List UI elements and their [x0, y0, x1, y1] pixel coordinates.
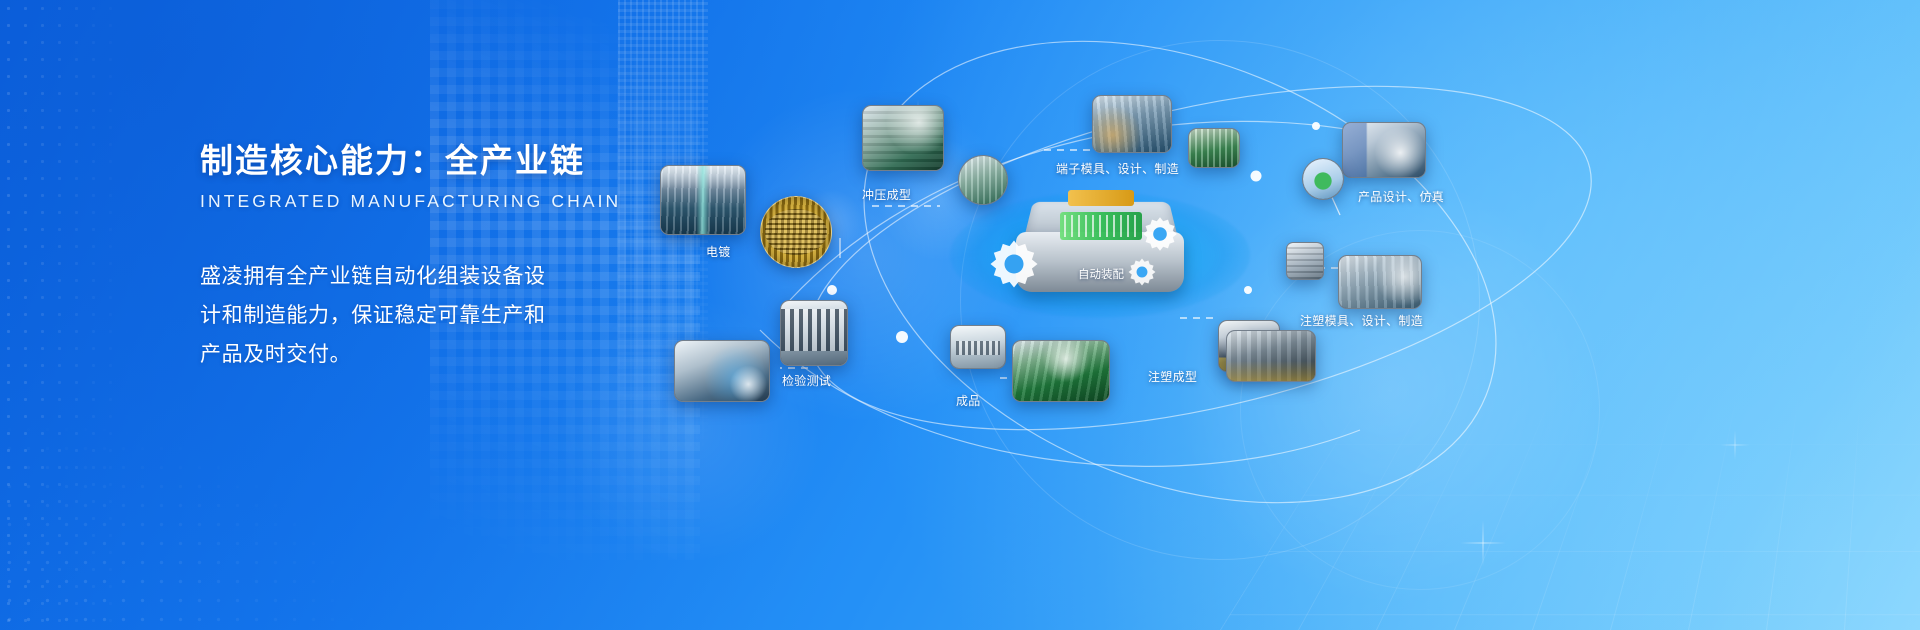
- node-label-electroplating: 电镀: [706, 243, 731, 260]
- gear-icon: [1126, 256, 1158, 288]
- machine-core: [1060, 212, 1142, 240]
- node-label-stamping: 冲压成型: [862, 186, 911, 203]
- node-photo-production-line[interactable]: [1012, 340, 1110, 402]
- gear-icon: [986, 236, 1042, 292]
- banner-copy: 制造核心能力：全产业链 INTEGRATED MANUFACTURING CHA…: [200, 140, 620, 375]
- node-photo-inspection[interactable]: [674, 340, 770, 402]
- node-label-product-design: 产品设计、仿真: [1358, 188, 1444, 205]
- node-photo-terminal-mold-detail[interactable]: [1188, 128, 1240, 168]
- description-paragraph: 盛凌拥有全产业链自动化组装设备设 计和制造能力，保证稳定可靠生产和 产品及时交付…: [200, 258, 620, 375]
- node-label-finished-goods: 成品: [956, 392, 981, 409]
- node-photo-finished-goods[interactable]: [950, 325, 1006, 369]
- gear-icon: [1140, 214, 1180, 254]
- node-photo-injection-forming-wide[interactable]: [1226, 330, 1316, 382]
- node-label-inspection: 检验测试: [782, 372, 831, 389]
- node-photo-product-design[interactable]: [1342, 122, 1426, 178]
- page-title: 制造核心能力：全产业链: [200, 140, 620, 181]
- machine-arm: [1068, 190, 1134, 206]
- node-photo-injection-mold[interactable]: [1338, 255, 1422, 309]
- description-line: 盛凌拥有全产业链自动化组装设备设: [200, 258, 620, 297]
- node-photo-product-model[interactable]: [1302, 158, 1344, 200]
- page-subtitle: INTEGRATED MANUFACTURING CHAIN: [200, 191, 620, 212]
- node-photo-stamping[interactable]: [862, 105, 944, 171]
- center-label: 自动装配: [1078, 266, 1124, 282]
- halftone-dots-bottom-left: [0, 420, 360, 630]
- node-photo-terminal-mold[interactable]: [1092, 95, 1172, 153]
- node-photo-electroplating[interactable]: [660, 165, 746, 235]
- node-label-injection-mold: 注塑模具、设计、制造: [1300, 312, 1423, 329]
- halftone-dots-left: [0, 0, 130, 630]
- coil-strip-icon: [760, 196, 832, 268]
- node-photo-stamping-detail[interactable]: [958, 155, 1008, 205]
- node-photo-injection-mold-detail[interactable]: [1286, 242, 1324, 280]
- node-photo-test-fixture[interactable]: [780, 300, 848, 366]
- process-chain-diagram: 自动装配 电镀: [640, 0, 1920, 630]
- manufacturing-chain-banner: 制造核心能力：全产业链 INTEGRATED MANUFACTURING CHA…: [0, 0, 1920, 630]
- description-line: 计和制造能力，保证稳定可靠生产和: [200, 297, 620, 336]
- node-label-terminal-mold: 端子模具、设计、制造: [1056, 160, 1179, 177]
- description-line: 产品及时交付。: [200, 336, 620, 375]
- node-label-injection-forming: 注塑成型: [1148, 368, 1197, 385]
